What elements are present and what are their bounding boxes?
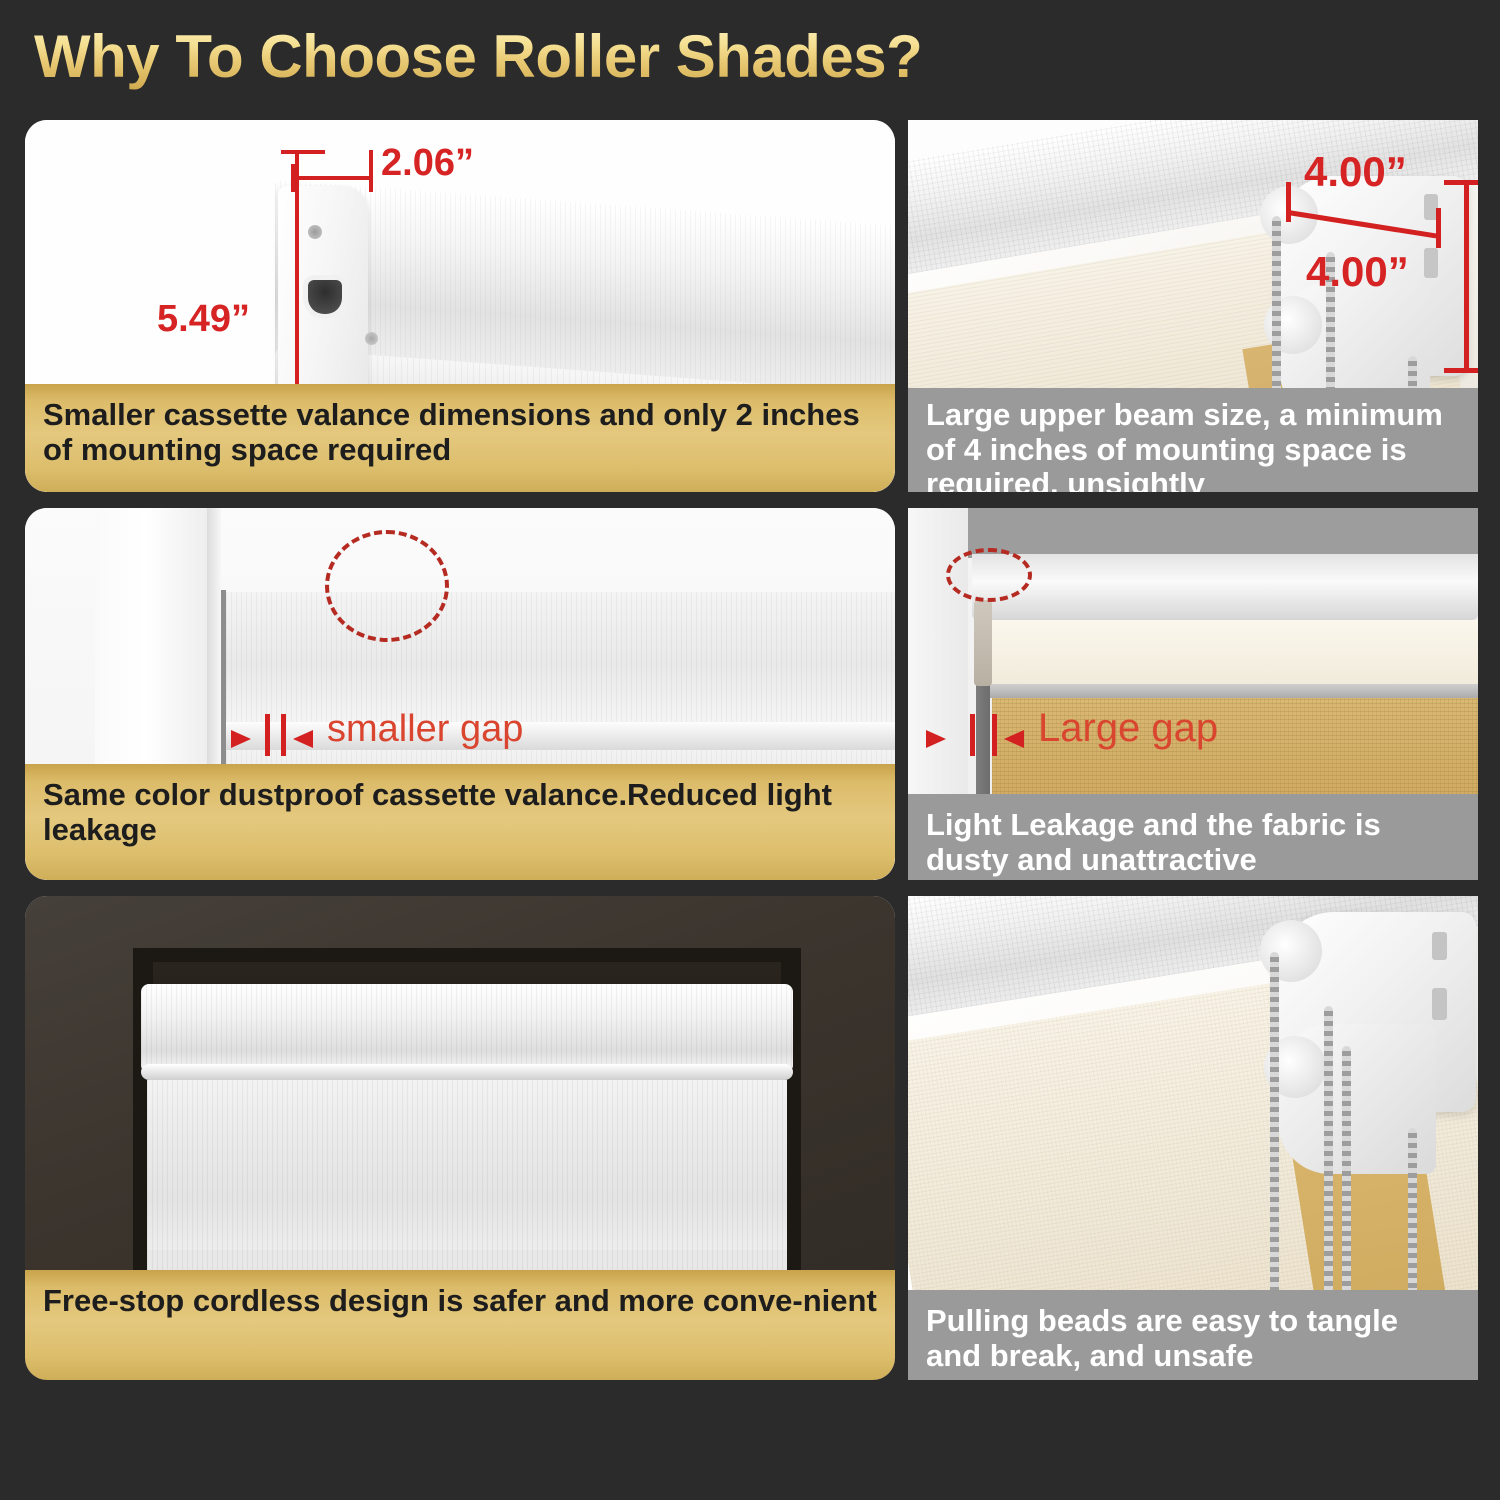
bracket-slot-top bbox=[1432, 932, 1447, 960]
panel-pro-cassette-dimensions: 2.06” 5.49” Smaller cassette valance dim… bbox=[25, 120, 895, 492]
caption-con-upper-beam-size: Large upper beam size, a minimum of 4 in… bbox=[908, 388, 1478, 492]
endcap-slot bbox=[308, 280, 342, 314]
bracket-slot-bottom bbox=[1432, 988, 1447, 1020]
caption-pro-cassette-dimensions: Smaller cassette valance dimensions and … bbox=[25, 384, 895, 492]
beam-height-label: 4.00” bbox=[1306, 248, 1409, 296]
beam-height-dim-line bbox=[1464, 182, 1469, 372]
bottom-rail bbox=[980, 684, 1478, 698]
large-gap-arrow-left-icon bbox=[926, 730, 946, 748]
gap-marker-b bbox=[281, 714, 286, 756]
bracket-hook bbox=[974, 600, 992, 686]
panel-con-light-leakage: Large gap Light Leakage and the fabric i… bbox=[908, 508, 1478, 880]
width-dim-line bbox=[293, 176, 371, 180]
panel-pro-dustproof-valance: smaller gap Same color dustproof cassett… bbox=[25, 508, 895, 880]
shade-upper-panel bbox=[147, 1080, 787, 1250]
caption-con-pulling-beads: Pulling beads are easy to tangle and bre… bbox=[908, 1290, 1478, 1380]
cassette-valance bbox=[141, 984, 793, 1070]
fabric-white-band bbox=[980, 620, 1478, 690]
caption-pro-dustproof-valance: Same color dustproof cassette valance.Re… bbox=[25, 764, 895, 880]
shade-upper-section bbox=[221, 592, 895, 722]
gap-arrow-left-icon bbox=[231, 730, 251, 748]
ceiling-shadow bbox=[968, 508, 1478, 558]
caption-con-light-leakage: Light Leakage and the fabric is dusty an… bbox=[908, 794, 1478, 880]
panel-pro-free-stop-cordless: Free-stop cordless design is safer and m… bbox=[25, 896, 895, 1380]
height-dim-tick-top bbox=[281, 150, 325, 154]
beam-width-label: 4.00” bbox=[1304, 148, 1407, 196]
gap-arrow-right-icon bbox=[293, 730, 313, 748]
gap-label-large: Large gap bbox=[1038, 706, 1218, 751]
beam-width-tick-left bbox=[1286, 182, 1291, 222]
gap-label-smaller: smaller gap bbox=[327, 708, 523, 751]
beam-height-tick-bottom bbox=[1444, 368, 1478, 373]
large-gap-marker-b bbox=[992, 714, 997, 756]
shade-mid-rail bbox=[221, 722, 895, 750]
panel-con-pulling-beads: Pulling beads are easy to tangle and bre… bbox=[908, 896, 1478, 1380]
beam-height-tick-top bbox=[1444, 180, 1478, 185]
page-title: Why To Choose Roller Shades? bbox=[34, 22, 922, 91]
infographic-page: Why To Choose Roller Shades? 2.06” 5.49”… bbox=[0, 0, 1500, 1500]
width-dim-tick-right bbox=[369, 150, 373, 192]
panel-con-upper-beam-size: 4.00” 4.00” Large upper beam size, a min… bbox=[908, 120, 1478, 492]
valance-lip bbox=[141, 1064, 793, 1080]
highlight-ellipse-gap bbox=[946, 548, 1032, 602]
caption-pro-free-stop-cordless: Free-stop cordless design is safer and m… bbox=[25, 1270, 895, 1380]
roller-tube-exposed bbox=[972, 554, 1478, 620]
large-gap-arrow-right-icon bbox=[1004, 730, 1024, 748]
gap-marker-a bbox=[265, 714, 270, 756]
endcap-screw-top-icon bbox=[308, 225, 322, 239]
endcap-screw-mid-icon bbox=[365, 332, 378, 345]
large-gap-marker-a bbox=[970, 714, 975, 756]
height-dim-label: 5.49” bbox=[157, 298, 250, 341]
beam-width-tick-right bbox=[1436, 208, 1441, 248]
width-dim-label: 2.06” bbox=[381, 142, 474, 185]
bracket-slot-bottom bbox=[1424, 248, 1438, 278]
highlight-circle-tight-fit bbox=[325, 530, 449, 642]
